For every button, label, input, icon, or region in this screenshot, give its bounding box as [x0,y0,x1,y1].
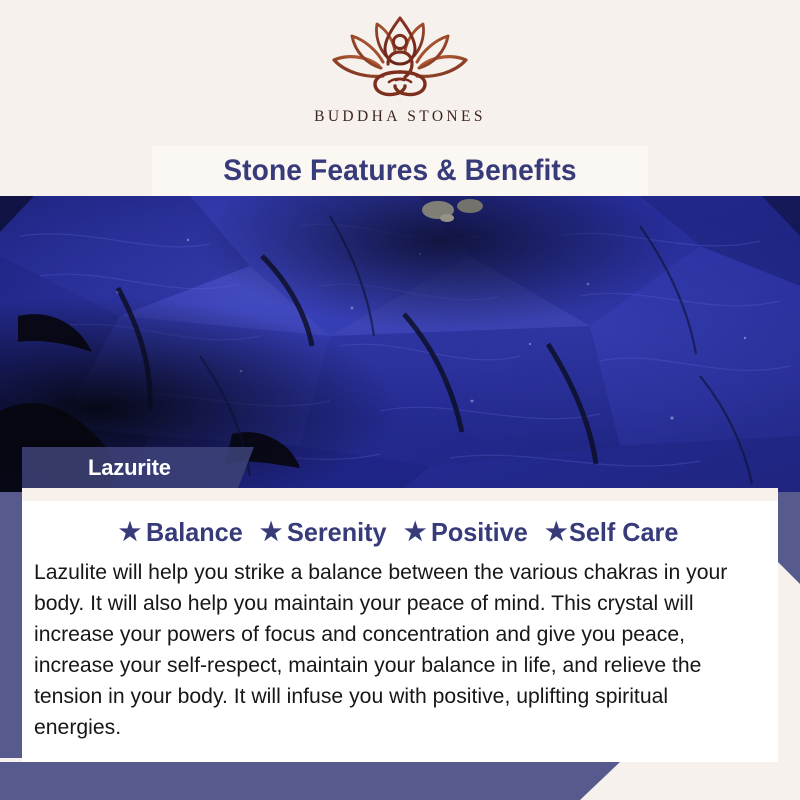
stone-name-band: Lazurite [22,447,254,488]
benefit-keyword-list: ★ Balance ★ Serenity ★ Positive ★ Self C… [22,517,778,548]
stone-name: Lazurite [88,455,171,481]
benefit-keyword-serenity: ★ Serenity [260,517,390,548]
star-icon: ★ [545,520,567,545]
benefit-label: Serenity [287,517,387,548]
stone-description: Lazulite will help you strike a balance … [34,557,749,743]
benefit-keyword-self-care: ★ Self Care [545,517,681,548]
content-panel: ★ Balance ★ Serenity ★ Positive ★ Self C… [22,501,778,762]
brand-logo: BUDDHA STONES [0,14,800,126]
benefit-label: Balance [146,517,243,548]
benefit-label: Positive [431,517,528,548]
page-title: Stone Features & Benefits [223,154,576,188]
frame-accent-bottom-left [0,762,620,800]
benefit-keyword-positive: ★ Positive [404,517,531,548]
title-banner: Stone Features & Benefits [152,146,648,196]
brand-name: BUDDHA STONES [314,108,486,126]
card-header: BUDDHA STONES Stone Features & Benefits [0,0,800,196]
benefit-label: Self Care [569,517,678,548]
benefit-keyword-balance: ★ Balance [119,517,246,548]
lotus-meditation-icon [325,14,475,102]
star-icon: ★ [404,520,426,545]
stone-info-card: BUDDHA STONES Stone Features & Benefits [0,0,800,800]
frame-accent-left [0,448,22,758]
panel-top-strip [22,488,778,501]
star-icon: ★ [260,520,282,545]
star-icon: ★ [119,520,141,545]
